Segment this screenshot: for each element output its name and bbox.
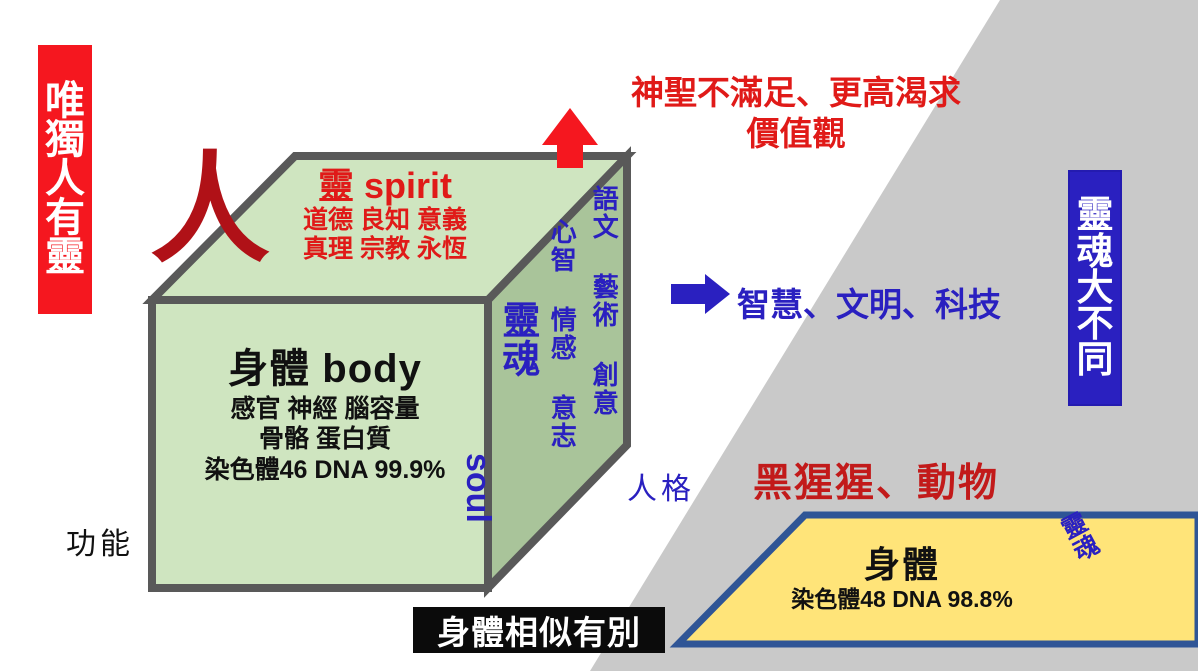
diagram-canvas: 唯 獨 人 有 靈 靈 魂 大 不 同 人 靈 spirit 道德 良知 意義 …	[0, 0, 1198, 671]
banner-right-char-3: 大	[1077, 270, 1114, 306]
banner-right-char-5: 同	[1077, 342, 1114, 378]
body-line-3: 骨骼 蛋白質	[165, 424, 485, 455]
banner-right-char-4: 不	[1077, 306, 1114, 342]
calligraphy-ren-glyph: 人	[150, 150, 270, 270]
soul-column-language-art-creativity: 語文 藝術 創意	[590, 185, 617, 417]
soul-title-en: soul	[458, 453, 497, 523]
headline-divine-discontent: 神聖不滿足、更高渴求 價值觀	[586, 72, 1006, 155]
banner-left-char-3: 人	[45, 160, 85, 199]
headline-line-1: 神聖不滿足、更高渴求	[586, 72, 1006, 113]
animal-body-text: 身體 染色體48 DNA 98.8%	[742, 545, 1062, 613]
wisdom-civilization-technology-text: 智慧、文明、科技	[737, 278, 1001, 326]
spirit-line-3: 真理 宗教 永恆	[255, 235, 515, 264]
banner-left-char-2: 獨	[45, 121, 85, 160]
animal-body-detail: 染色體48 DNA 98.8%	[742, 585, 1062, 614]
spirit-title: 靈 spirit	[255, 165, 515, 206]
banner-bodies-similar-yet-different: 身體相似有別	[413, 607, 665, 653]
label-function: 功能	[66, 519, 134, 563]
label-chimpanzee-animals: 黑猩猩、動物	[753, 452, 999, 508]
headline-line-2: 價值觀	[586, 113, 1006, 154]
label-personality: 人格	[627, 464, 695, 508]
body-title: 身體 body	[165, 345, 485, 394]
banner-unique-human-spirit: 唯 獨 人 有 靈	[38, 45, 92, 314]
cube-top-face-text: 靈 spirit 道德 良知 意義 真理 宗教 永恆	[255, 165, 515, 263]
animal-body-title: 身體	[742, 545, 1062, 585]
banner-left-char-5: 靈	[45, 238, 85, 277]
banner-right-char-1: 靈	[1077, 197, 1114, 233]
banner-right-char-2: 魂	[1077, 234, 1114, 270]
banner-left-char-4: 有	[45, 199, 85, 238]
body-line-2: 感官 神經 腦容量	[165, 394, 485, 425]
blue-right-arrow-icon	[671, 274, 730, 314]
banner-left-char-1: 唯	[45, 82, 85, 121]
banner-soul-very-different: 靈 魂 大 不 同	[1068, 170, 1122, 406]
spirit-line-2: 道德 良知 意義	[255, 206, 515, 235]
soul-column-mind-emotion-will: 心智 情感 意志	[548, 218, 575, 450]
soul-title-cn: 靈魂	[496, 300, 536, 378]
body-line-4: 染色體46 DNA 99.9%	[165, 455, 485, 486]
cube-front-face-text: 身體 body 感官 神經 腦容量 骨骼 蛋白質 染色體46 DNA 99.9%	[165, 345, 485, 485]
